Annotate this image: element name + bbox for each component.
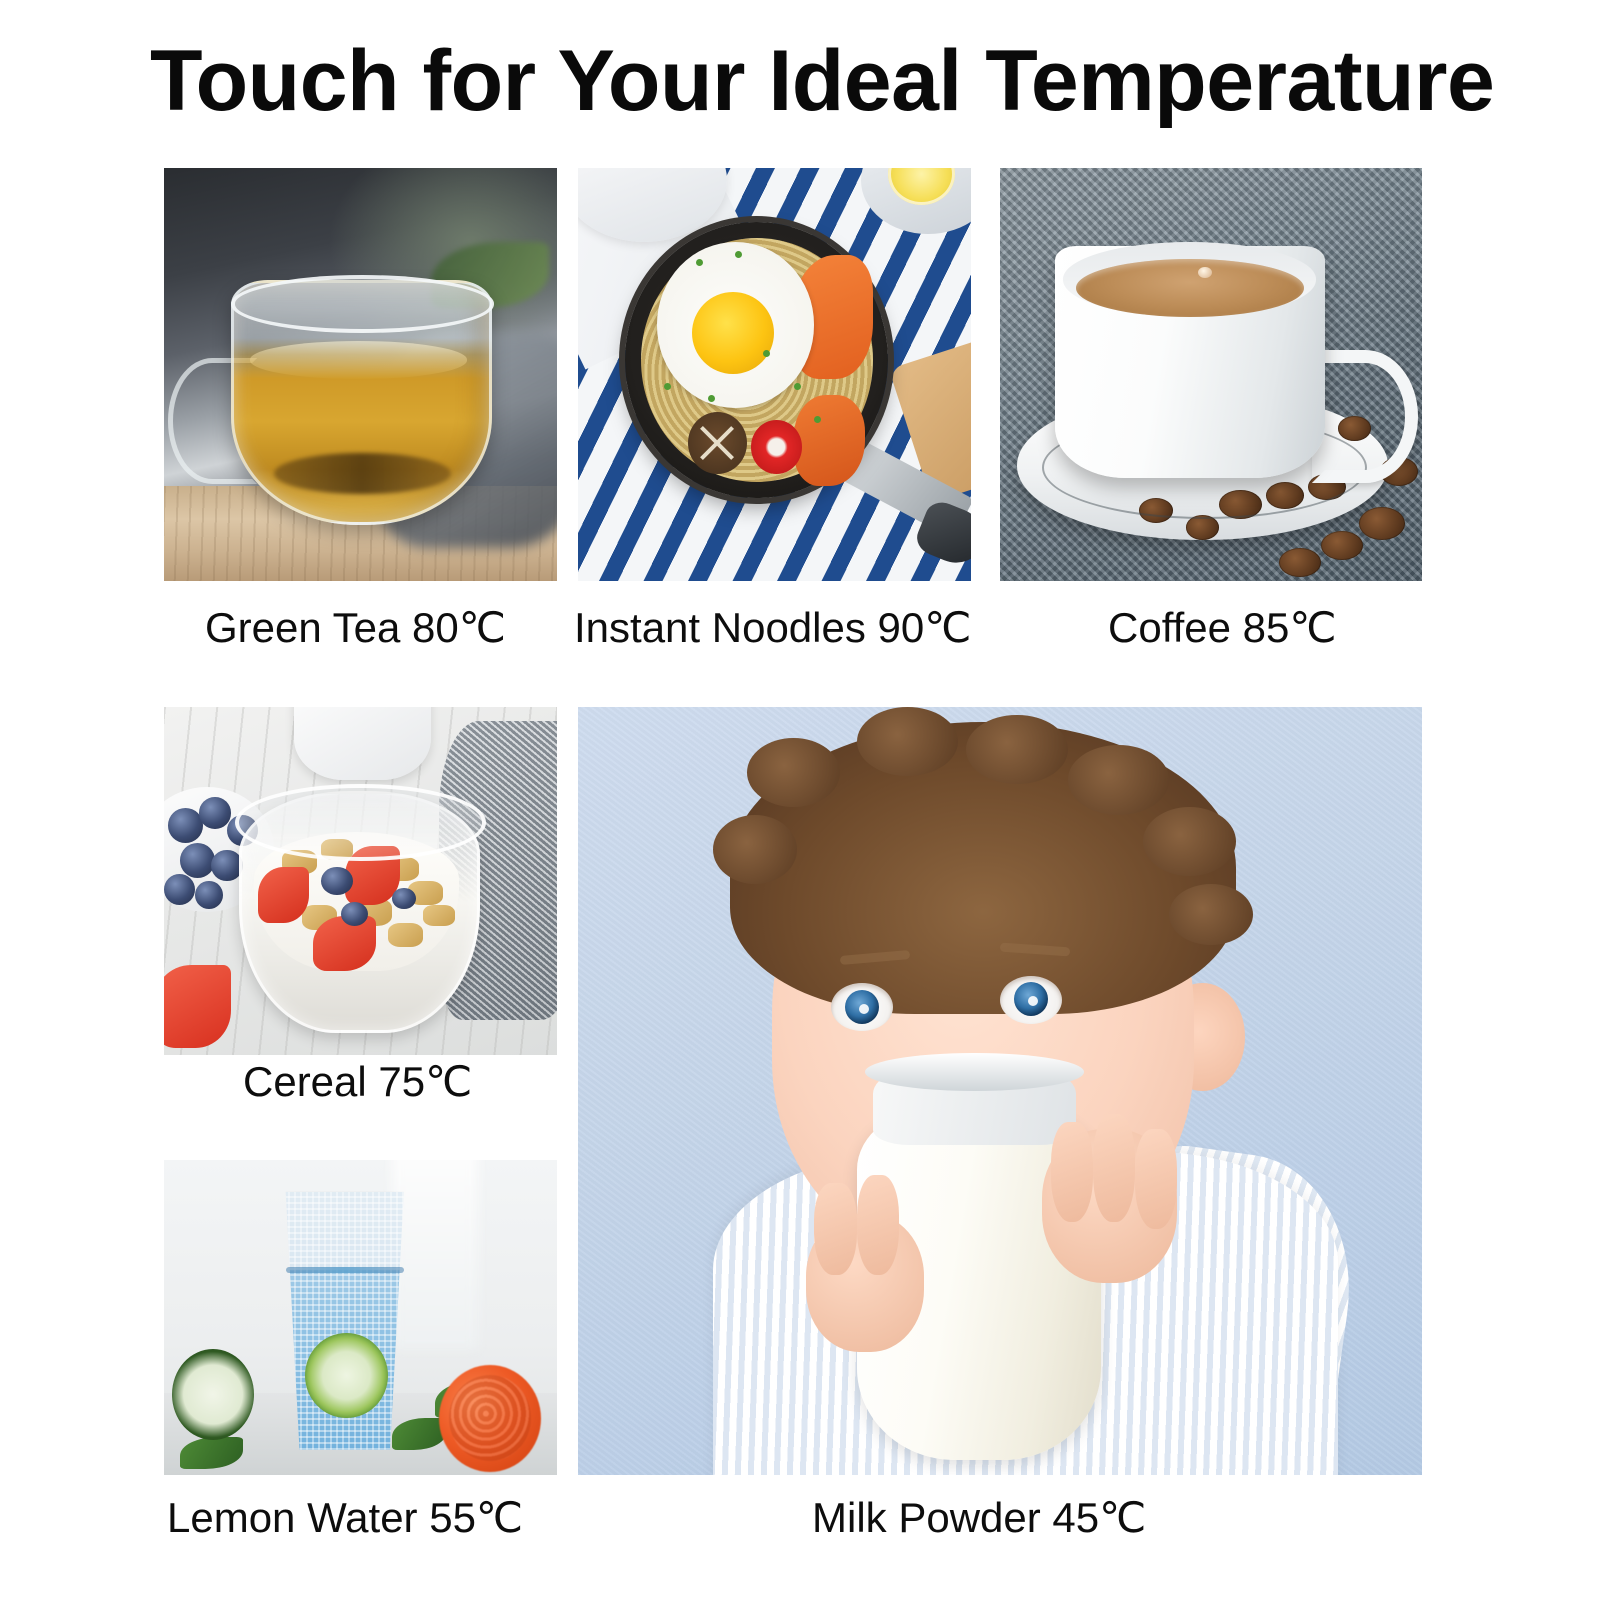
tea-surface [250, 341, 466, 378]
cup-handle [1312, 350, 1418, 483]
coffee-liquid [1076, 259, 1304, 317]
steeped-tea-leaves [274, 453, 451, 494]
lime-slice-in-water [305, 1333, 388, 1418]
scallion-bit [735, 251, 742, 258]
caption-lemon-water: Lemon Water 55℃ [167, 1494, 523, 1542]
blueberry [392, 888, 416, 909]
blueberry [211, 850, 242, 881]
hair-curl [966, 715, 1067, 784]
page-title: Touch for Your Ideal Temperature [150, 34, 1450, 128]
blueberry [168, 808, 203, 843]
baby-eye-right [1000, 976, 1062, 1024]
blueberry [199, 797, 230, 828]
baby-finger [857, 1175, 899, 1275]
shrimp-bottom [794, 395, 865, 486]
water-line [286, 1267, 404, 1273]
blueberry [321, 867, 352, 895]
blueberry [180, 843, 215, 878]
product-image-green-tea [164, 168, 557, 581]
strawberry-slice-left [164, 965, 231, 1049]
product-image-cereal [164, 707, 557, 1055]
hair-curl [857, 707, 958, 776]
product-image-coffee [1000, 168, 1422, 581]
caption-cereal: Cereal 75℃ [243, 1058, 472, 1106]
baby-finger [814, 1183, 856, 1275]
window-light [392, 1160, 478, 1349]
caption-green-tea: Green Tea 80℃ [205, 604, 506, 652]
scallion-bit [794, 383, 801, 390]
cup-rim [231, 275, 494, 333]
blueberry [195, 881, 223, 909]
scallion-bit [814, 416, 821, 423]
coffee-bean [1321, 531, 1363, 560]
caption-milk-powder: Milk Powder 45℃ [812, 1494, 1146, 1542]
hair-curl [1068, 745, 1169, 814]
caption-instant-noodles: Instant Noodles 90℃ [574, 604, 971, 652]
cherry-tomato [751, 420, 802, 474]
granola-cluster [388, 923, 423, 947]
coffee-bean [1279, 548, 1321, 577]
product-image-instant-noodles [578, 168, 971, 581]
product-image-milk-powder [578, 707, 1422, 1475]
scallion-bit [763, 350, 770, 357]
caption-coffee: Coffee 85℃ [1108, 604, 1337, 652]
infographic-page: Touch for Your Ideal Temperature Green T… [0, 0, 1601, 1601]
hair-curl [1143, 807, 1236, 876]
bottle-ring [865, 1053, 1084, 1091]
product-image-lemon-water [164, 1160, 557, 1475]
hair-curl [1169, 884, 1253, 945]
orange-flower [439, 1365, 541, 1472]
hair-curl [747, 738, 840, 807]
baby-finger [1135, 1129, 1177, 1229]
coffee-bean [1359, 507, 1405, 540]
shiitake-mushroom [688, 412, 747, 474]
scallion-bit [696, 259, 703, 266]
hair-curl [713, 815, 797, 884]
scallion-bit [708, 395, 715, 402]
strawberry-piece [258, 867, 309, 923]
baby-finger [1093, 1114, 1135, 1222]
lime-half [172, 1349, 255, 1440]
granola-cluster [423, 905, 454, 926]
milk-jug [294, 707, 432, 780]
baby-finger [1051, 1122, 1093, 1222]
bowl-rim [235, 784, 487, 862]
